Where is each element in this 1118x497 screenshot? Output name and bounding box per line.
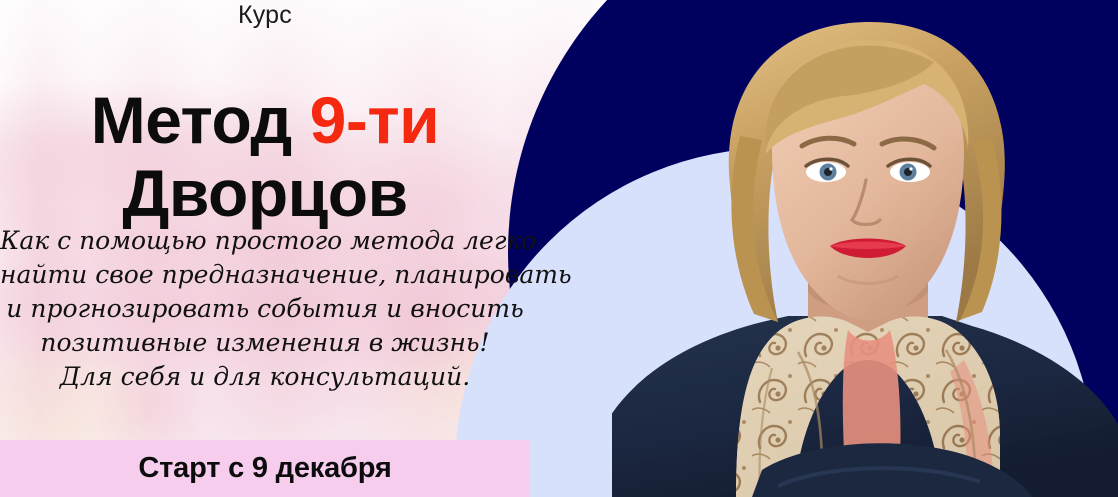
course-description: Как с помощью простого метода легко найт…	[0, 224, 530, 394]
banner-text-column: Курс Метод 9-ти Дворцов Как с помощью пр…	[0, 0, 560, 497]
course-eyebrow-label: Курс	[0, 0, 530, 30]
instructor-portrait: Фотография женщины-преподавателя в тёмно…	[612, 0, 1118, 497]
start-date-label: Старт с 9 декабря	[0, 440, 530, 497]
description-line: Как с помощью простого метода легко	[0, 224, 530, 258]
headline-accent-9ti: 9-ти	[310, 83, 440, 157]
headline-line-2: Дворцов	[0, 157, 530, 230]
instructor-portrait-illustration: Фотография женщины-преподавателя в тёмно…	[612, 0, 1118, 497]
description-line: Для себя и для консультаций.	[0, 360, 530, 394]
headline-line-1-plain: Метод	[91, 83, 310, 157]
description-line: и прогнозировать события и вносить	[0, 292, 530, 326]
page-title: Метод 9-ти Дворцов	[0, 84, 530, 230]
start-date-banner: Старт с 9 декабря	[0, 440, 530, 497]
description-line: найти свое предназначение, планировать	[0, 258, 530, 292]
description-line: позитивные изменения в жизнь!	[0, 326, 530, 360]
course-promo-banner: Фотография женщины-преподавателя в тёмно…	[0, 0, 1118, 497]
